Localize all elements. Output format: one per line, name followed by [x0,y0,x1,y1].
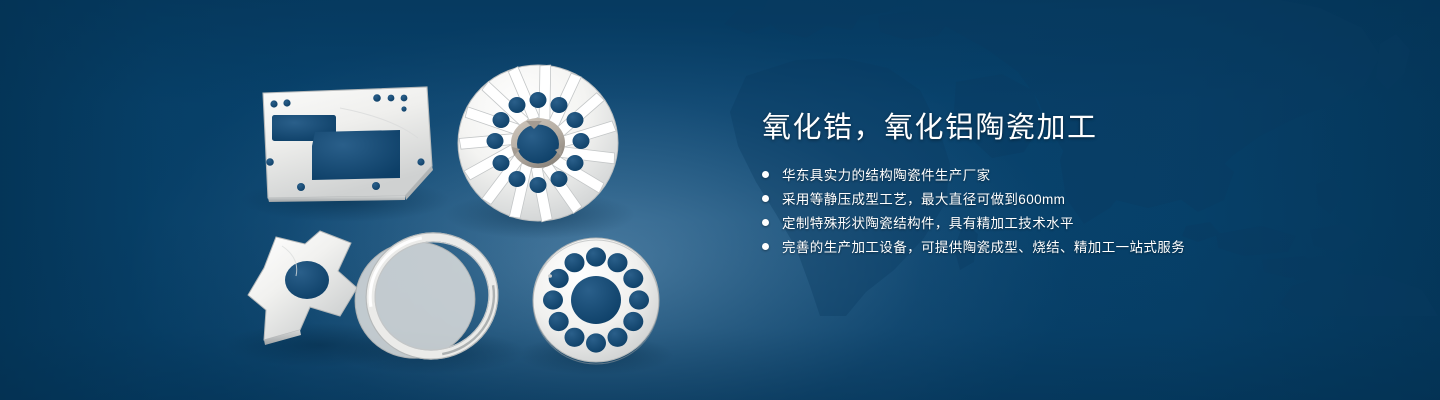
feature-item-label: 完善的生产加工设备，可提供陶瓷成型、烧结、精加工一站式服务 [782,236,1185,256]
bullet-dot-icon [762,243,769,250]
banner-feature-list: 华东具实力的结构陶瓷件生产厂家 采用等静压成型工艺，最大直径可做到600mm 定… [762,162,1382,258]
product-hero-banner: 氧化锆，氧化铝陶瓷加工 华东具实力的结构陶瓷件生产厂家 采用等静压成型工艺，最大… [0,0,1440,400]
banner-headline: 氧化锆，氧化铝陶瓷加工 [762,108,1382,148]
feature-item: 定制特殊形状陶瓷结构件，具有精加工技术水平 [762,210,1382,234]
bullet-dot-icon [762,171,769,178]
bullet-dot-icon [762,195,769,202]
banner-copy: 氧化锆，氧化铝陶瓷加工 华东具实力的结构陶瓷件生产厂家 采用等静压成型工艺，最大… [762,108,1382,258]
ceramic-mounting-plate [263,87,433,202]
feature-item: 华东具实力的结构陶瓷件生产厂家 [762,162,1382,186]
bullet-dot-icon [762,219,769,226]
feature-item-label: 华东具实力的结构陶瓷件生产厂家 [782,164,991,184]
feature-item-label: 采用等静压成型工艺，最大直径可做到600mm [782,188,1065,208]
feature-item-label: 定制特殊形状陶瓷结构件，具有精加工技术水平 [782,212,1074,232]
feature-item: 采用等静压成型工艺，最大直径可做到600mm [762,186,1382,210]
ceramic-products-photo [0,0,720,400]
feature-item: 完善的生产加工设备，可提供陶瓷成型、烧结、精加工一站式服务 [762,234,1382,258]
